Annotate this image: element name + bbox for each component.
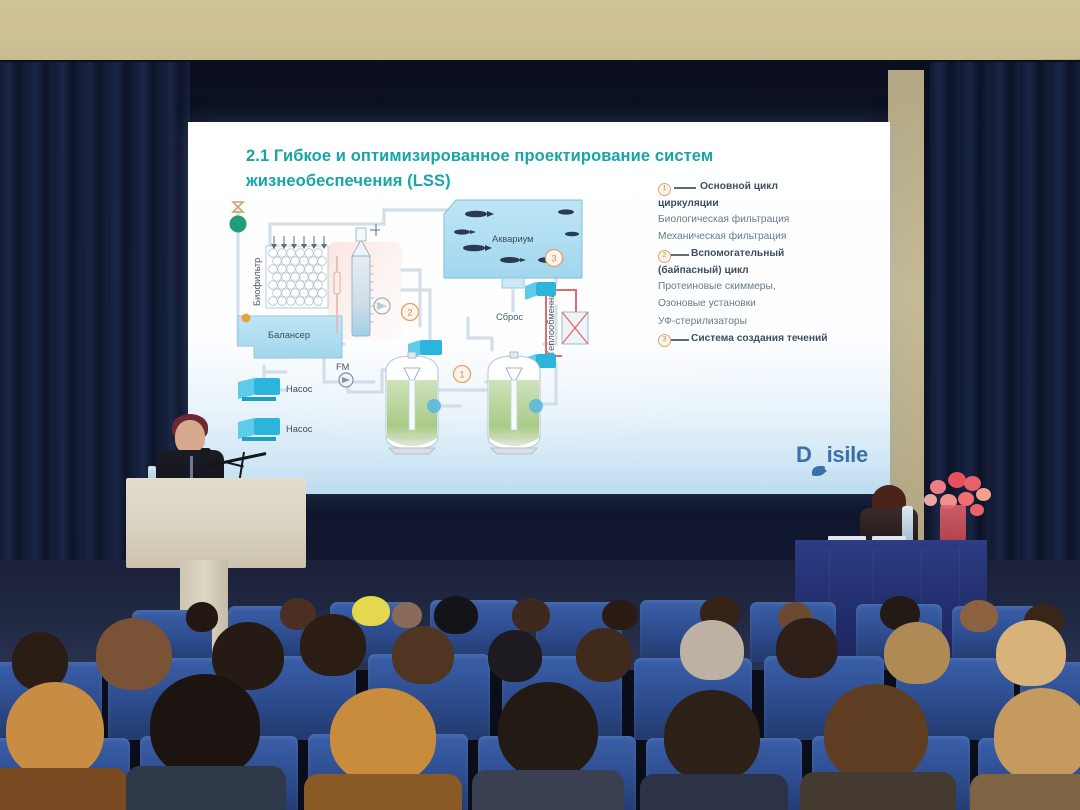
audience-section — [0, 596, 1080, 810]
audience-head — [96, 618, 172, 690]
brand-logo: Disile — [796, 442, 868, 468]
legend-marker-2-icon: 2 — [658, 250, 671, 263]
sand-filter-1 — [386, 352, 441, 454]
diagram-marker-1: 1 — [454, 366, 471, 383]
microphone-head-icon — [200, 448, 211, 455]
diagram-marker-3: 3 — [546, 250, 563, 267]
speaker-podium — [126, 478, 306, 568]
audience-head — [680, 620, 744, 680]
inlet-valve — [230, 202, 247, 233]
flow-meter — [339, 373, 353, 387]
legend-label-auxiliary: Вспомогательный — [691, 247, 784, 261]
audience-head — [186, 602, 218, 632]
pump-blue-2 — [238, 418, 280, 441]
diagram-marker-2: 2 — [402, 304, 419, 321]
audience-head — [994, 688, 1080, 782]
audience-head — [300, 614, 366, 676]
legend-label-protein-skimmers: Протеиновые скиммеры, — [658, 279, 883, 294]
projection-screen: 2.1 Гибкое и оптимизированное проектиров… — [188, 122, 890, 494]
audience-head — [664, 690, 760, 782]
audience-head — [330, 688, 436, 784]
screenshot-root: 2.1 Гибкое и оптимизированное проектиров… — [0, 0, 1080, 810]
legend-label-mech-filtration: Механическая фильтрация — [658, 229, 883, 244]
audience-head — [488, 630, 542, 682]
brand-logo-prefix: D — [796, 442, 812, 467]
diagram-label-balancer: Балансер — [268, 330, 310, 340]
audience-head — [960, 600, 998, 632]
svg-text:2: 2 — [407, 308, 412, 318]
lss-process-diagram: Биофильтр Балансер — [224, 194, 664, 474]
audience-head — [824, 684, 928, 782]
audience-head — [776, 618, 838, 678]
svg-text:1: 1 — [459, 370, 464, 380]
biofilter — [266, 236, 328, 308]
diagram-label-biofilter: Биофильтр — [252, 258, 262, 306]
legend-label-main-cycle: Основной цикл — [700, 180, 778, 194]
legend-dash-1-icon — [674, 187, 696, 189]
legend-row-2: 2 Вспомогательный — [658, 247, 883, 263]
audience-head — [392, 602, 422, 628]
diagram-label-flow-meter: FM — [336, 362, 349, 372]
legend-label-current-system: Система создания течений — [691, 332, 828, 346]
legend-label-auxiliary-cont: (байпасный) цикл — [658, 265, 883, 276]
audience-head — [498, 682, 598, 778]
audience-head — [392, 626, 454, 684]
audience-head — [602, 600, 638, 630]
audience-head — [996, 620, 1066, 686]
audience-head — [150, 674, 260, 778]
audience-head — [512, 598, 550, 632]
legend-dash-2-icon — [671, 254, 689, 256]
slide-legend: 1 Основной цикл циркуляции Биологическая… — [658, 180, 883, 350]
diagram-label-discharge: Сброс — [496, 312, 523, 322]
legend-row-1: 1 Основной цикл — [658, 180, 883, 196]
legend-label-main-cycle-cont: циркуляции — [658, 198, 883, 209]
legend-row-3: 3 Система создания течений — [658, 332, 883, 348]
legend-label-uv-sterilizers: УФ-стерилизаторы — [658, 314, 883, 329]
svg-text:3: 3 — [551, 254, 556, 264]
flower-vase — [940, 505, 966, 545]
brand-logo-suffix: isile — [827, 442, 868, 467]
diagram-label-pump-2: Насос — [286, 424, 313, 434]
legend-marker-3-icon: 3 — [658, 334, 671, 347]
diagram-label-aquarium: Аквариум — [492, 234, 534, 244]
pump-blue-1 — [238, 378, 280, 401]
sand-filter-2 — [488, 352, 543, 454]
legend-label-ozone-units: Озоновые установки — [658, 296, 883, 311]
audience-head — [576, 628, 632, 682]
audience-head — [6, 682, 104, 778]
audience-head — [884, 622, 950, 684]
legend-marker-1-icon: 1 — [658, 183, 671, 196]
legend-dash-3-icon — [671, 339, 689, 341]
audience-head — [434, 596, 478, 634]
diagram-label-pump-1: Насос — [286, 384, 313, 394]
diagram-label-heat-exchanger: Теплообменник — [546, 288, 556, 356]
legend-label-bio-filtration: Биологическая фильтрация — [658, 212, 883, 227]
audience-head — [352, 596, 390, 626]
